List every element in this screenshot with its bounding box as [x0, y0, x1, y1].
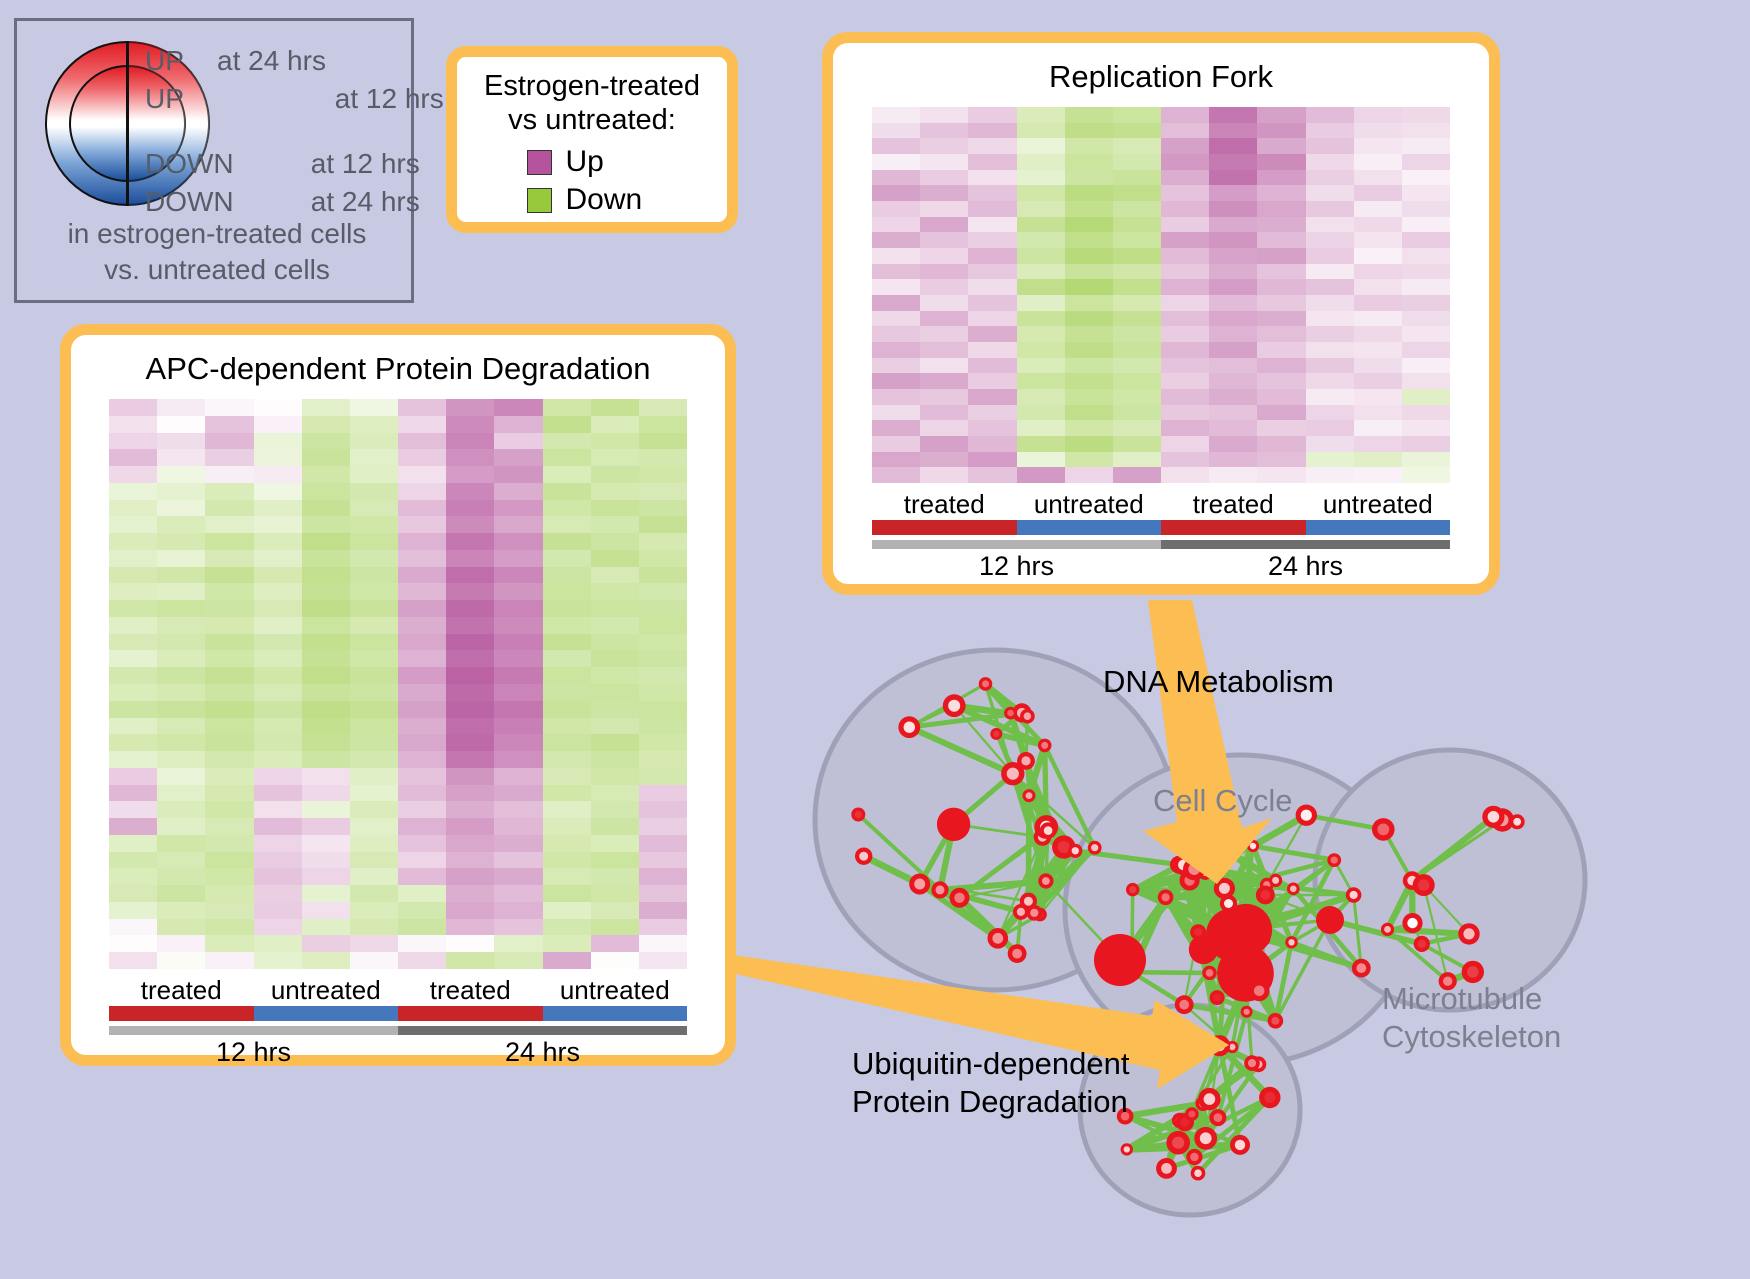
estrogen-title-line-2: vs untreated: [457, 103, 727, 137]
heatmap-cell [398, 885, 446, 902]
heatmap-cell [639, 785, 687, 802]
apc-group-labels: treateduntreatedtreateduntreated [109, 975, 687, 1006]
heatmap-cell [1113, 311, 1161, 327]
heatmap-cell [1306, 107, 1354, 123]
network-node-core [1161, 1163, 1172, 1174]
heatmap-cell [968, 467, 1016, 483]
heatmap-cell [350, 634, 398, 651]
heatmap-cell [920, 248, 968, 264]
heatmap-cell [639, 718, 687, 735]
heatmap-cell [1161, 201, 1209, 217]
heatmap-cell [302, 466, 350, 483]
heatmap-cell [543, 600, 591, 617]
heatmap-cell [1209, 232, 1257, 248]
heatmap-cell [350, 952, 398, 969]
heatmap-cell [302, 734, 350, 751]
group-label: untreated [1306, 489, 1451, 520]
heatmap-cell [1402, 170, 1450, 186]
replication-fork-group-labels: treateduntreatedtreateduntreated [872, 489, 1450, 520]
heatmap-cell [1161, 185, 1209, 201]
heatmap-cell [109, 583, 157, 600]
heatmap-cell [872, 295, 920, 311]
heatmap-cell [968, 264, 1016, 280]
heatmap-cell [109, 600, 157, 617]
heatmap-cell [1354, 342, 1402, 358]
heatmap-cell [350, 516, 398, 533]
heatmap-cell [446, 801, 494, 818]
heatmap-cell [591, 550, 639, 567]
network-node-core [1271, 1017, 1279, 1025]
heatmap-cell [446, 600, 494, 617]
heatmap-cell [639, 399, 687, 416]
heatmap-cell [494, 634, 542, 651]
heatmap-cell [591, 701, 639, 718]
heatmap-cell [591, 483, 639, 500]
heatmap-cell [1257, 248, 1305, 264]
legend-label-down: Down [566, 183, 658, 217]
heatmap-cell [1113, 326, 1161, 342]
heatmap-cell [350, 751, 398, 768]
heatmap-cell [302, 935, 350, 952]
heatmap-cell [109, 919, 157, 936]
heatmap-cell [1065, 311, 1113, 327]
heatmap-cell [254, 852, 302, 869]
heatmap-cell [872, 436, 920, 452]
heatmap-cell [398, 567, 446, 584]
heatmap-cell [302, 667, 350, 684]
heatmap-cell [1354, 138, 1402, 154]
heatmap-cell [639, 701, 687, 718]
heatmap-cell [302, 634, 350, 651]
heatmap-cell [109, 768, 157, 785]
heatmap-cell [205, 952, 253, 969]
dial-divider [126, 41, 129, 206]
heatmap-cell [494, 667, 542, 684]
heatmap-cell [1402, 138, 1450, 154]
heatmap-cell [1113, 232, 1161, 248]
heatmap-cell [543, 919, 591, 936]
heatmap-cell [591, 801, 639, 818]
heatmap-cell [1257, 389, 1305, 405]
heatmap-cell [494, 868, 542, 885]
heatmap-cell [639, 751, 687, 768]
heatmap-cell [109, 751, 157, 768]
heatmap-cell [205, 751, 253, 768]
heatmap-cell [350, 902, 398, 919]
heatmap-cell [591, 516, 639, 533]
heatmap-cell [109, 667, 157, 684]
heatmap-cell [350, 449, 398, 466]
replication-fork-time-bars [872, 540, 1450, 549]
heatmap-cell [157, 483, 205, 500]
heatmap-cell [1017, 154, 1065, 170]
heatmap-cell [1209, 123, 1257, 139]
heatmap-cell [398, 483, 446, 500]
heatmap-cell [302, 868, 350, 885]
heatmap-cell [157, 718, 205, 735]
heatmap-cell [1257, 405, 1305, 421]
network-node[interactable] [1316, 906, 1344, 934]
network-node-core [1042, 877, 1050, 885]
heatmap-cell [1257, 232, 1305, 248]
network-node-core [992, 933, 1003, 944]
heatmap-cell [1017, 295, 1065, 311]
heatmap-cell [543, 583, 591, 600]
network-node-core [1418, 940, 1426, 948]
heatmap-cell [109, 516, 157, 533]
heatmap-cell [157, 734, 205, 751]
heatmap-cell [968, 420, 1016, 436]
heatmap-cell [398, 449, 446, 466]
cluster-label-cell-cycle: Cell Cycle [1153, 783, 1293, 819]
time-label: 12 hrs [872, 551, 1161, 582]
heatmap-cell [1209, 217, 1257, 233]
heatmap-cell [1402, 154, 1450, 170]
heatmap-cell [1257, 107, 1305, 123]
heatmap-cell [920, 264, 968, 280]
heatmap-cell [1257, 170, 1305, 186]
heatmap-cell [1017, 326, 1065, 342]
heatmap-cell [398, 751, 446, 768]
heatmap-cell [1161, 232, 1209, 248]
heatmap-cell [494, 935, 542, 952]
heatmap-cell [109, 885, 157, 902]
heatmap-cell [543, 801, 591, 818]
heatmap-cell [1017, 311, 1065, 327]
heatmap-cell [157, 634, 205, 651]
network-node[interactable] [937, 808, 970, 841]
heatmap-cell [398, 550, 446, 567]
heatmap-cell [968, 311, 1016, 327]
protein-interaction-network [790, 620, 1750, 1279]
heatmap-cell [446, 399, 494, 416]
heatmap-cell [1113, 295, 1161, 311]
heatmap-cell [398, 416, 446, 433]
heatmap-cell [1354, 154, 1402, 170]
heatmap-cell [398, 516, 446, 533]
time-bar [109, 1026, 398, 1035]
network-node-core [1407, 918, 1417, 928]
network-node-core [1194, 1169, 1202, 1177]
heatmap-cell [543, 768, 591, 785]
heatmap-cell [302, 533, 350, 550]
network-node-core [1301, 810, 1312, 821]
heatmap-cell [639, 650, 687, 667]
heatmap-cell [254, 600, 302, 617]
heatmap-cell [1161, 154, 1209, 170]
heatmap-cell [1017, 467, 1065, 483]
heatmap-cell [872, 248, 920, 264]
heatmap-cell [543, 852, 591, 869]
legend-item-down: Down [457, 183, 727, 217]
heatmap-cell [350, 533, 398, 550]
heatmap-cell [639, 885, 687, 902]
heatmap-cell [205, 768, 253, 785]
network-node-core [1024, 712, 1032, 720]
network-node-core [1190, 1153, 1198, 1161]
heatmap-cell [1257, 373, 1305, 389]
heatmap-cell [494, 567, 542, 584]
heatmap-cell [494, 583, 542, 600]
heatmap-cell [1354, 436, 1402, 452]
heatmap-cell [1257, 326, 1305, 342]
heatmap-cell [109, 785, 157, 802]
heatmap-cell [1161, 217, 1209, 233]
heatmap-cell [494, 718, 542, 735]
heatmap-cell [1402, 248, 1450, 264]
heatmap-cell [639, 617, 687, 634]
heatmap-cell [591, 684, 639, 701]
heatmap-cell [205, 533, 253, 550]
heatmap-cell [1113, 201, 1161, 217]
heatmap-cell [254, 516, 302, 533]
heatmap-cell [1402, 326, 1450, 342]
heatmap-cell [968, 170, 1016, 186]
heatmap-cell [920, 154, 968, 170]
heatmap-cell [205, 550, 253, 567]
heatmap-cell [350, 617, 398, 634]
heatmap-cell [1354, 264, 1402, 280]
heatmap-cell [302, 567, 350, 584]
heatmap-cell [254, 483, 302, 500]
network-node[interactable] [1206, 908, 1260, 962]
heatmap-cell [1354, 452, 1402, 468]
heatmap-cell [1257, 342, 1305, 358]
heatmap-cell [446, 868, 494, 885]
heatmap-cell [591, 768, 639, 785]
heatmap-cell [591, 852, 639, 869]
heatmap-cell [302, 516, 350, 533]
heatmap-cell [157, 449, 205, 466]
heatmap-cell [398, 852, 446, 869]
heatmap-cell [398, 902, 446, 919]
cluster-label-ubiquitin-degradation: Ubiquitin-dependent Protein Degradation [852, 1045, 1130, 1121]
heatmap-cell [446, 684, 494, 701]
network-node[interactable] [1094, 934, 1146, 986]
heatmap-cell [157, 433, 205, 450]
network-node-core [1213, 994, 1221, 1002]
network-node-core [1235, 1140, 1245, 1150]
heatmap-cell [350, 818, 398, 835]
heatmap-cell [591, 466, 639, 483]
heatmap-cell [494, 516, 542, 533]
network-node-core [1017, 908, 1025, 916]
heatmap-cell [254, 684, 302, 701]
heatmap-cell [205, 449, 253, 466]
heatmap-cell [302, 500, 350, 517]
heatmap-cell [543, 466, 591, 483]
heatmap-cell [109, 399, 157, 416]
cluster-label-microtubule-cytoskeleton: Microtubule Cytoskeleton [1382, 980, 1561, 1056]
heatmap-cell [1402, 405, 1450, 421]
heatmap-cell [254, 650, 302, 667]
heatmap-cell [1065, 170, 1113, 186]
heatmap-cell [1161, 264, 1209, 280]
heatmap-cell [350, 433, 398, 450]
heatmap-cell [254, 466, 302, 483]
network-node-core [1350, 891, 1358, 899]
heatmap-cell [968, 295, 1016, 311]
heatmap-cell [1209, 138, 1257, 154]
heatmap-cell [254, 768, 302, 785]
heatmap-cell [446, 667, 494, 684]
heatmap-cell [254, 533, 302, 550]
heatmap-cell [157, 868, 205, 885]
heatmap-cell [302, 684, 350, 701]
heatmap-cell [109, 835, 157, 852]
heatmap-cell [1161, 326, 1209, 342]
dial-time-1: at 12 hrs [335, 83, 444, 114]
heatmap-cell [543, 650, 591, 667]
heatmap-cell [639, 952, 687, 969]
heatmap-cell [968, 389, 1016, 405]
heatmap-cell [254, 583, 302, 600]
heatmap-cell [494, 399, 542, 416]
heatmap-cell [446, 483, 494, 500]
heatmap-cell [446, 852, 494, 869]
heatmap-cell [398, 718, 446, 735]
heatmap-cell [446, 634, 494, 651]
heatmap-cell [205, 701, 253, 718]
heatmap-cell [1402, 107, 1450, 123]
heatmap-cell [1354, 217, 1402, 233]
heatmap-cell [254, 885, 302, 902]
heatmap-cell [205, 583, 253, 600]
heatmap-cell [254, 416, 302, 433]
heatmap-cell [543, 818, 591, 835]
heatmap-cell [494, 835, 542, 852]
heatmap-cell [1306, 436, 1354, 452]
heatmap-cell [254, 634, 302, 651]
heatmap-cell [1306, 452, 1354, 468]
heatmap-cell [350, 567, 398, 584]
heatmap-cell [1113, 436, 1161, 452]
heatmap-cell [109, 935, 157, 952]
heatmap-cell [302, 835, 350, 852]
heatmap-cell [1354, 107, 1402, 123]
heatmap-cell [398, 835, 446, 852]
heatmap-cell [968, 217, 1016, 233]
heatmap-cell [1113, 170, 1161, 186]
heatmap-cell [920, 452, 968, 468]
apc-degradation-panel: APC-dependent Protein Degradation treate… [60, 324, 736, 1066]
heatmap-cell [1209, 467, 1257, 483]
heatmap-cell [157, 684, 205, 701]
network-node-core [1288, 939, 1294, 945]
heatmap-cell [205, 567, 253, 584]
heatmap-cell [968, 138, 1016, 154]
network-node-core [1214, 1040, 1225, 1051]
heatmap-cell [1209, 170, 1257, 186]
heatmap-cell [109, 416, 157, 433]
heatmap-cell [1257, 420, 1305, 436]
heatmap-cell [350, 600, 398, 617]
heatmap-cell [1209, 295, 1257, 311]
heatmap-cell [639, 567, 687, 584]
heatmap-cell [968, 232, 1016, 248]
heatmap-cell [1065, 358, 1113, 374]
heatmap-cell [350, 785, 398, 802]
heatmap-cell [254, 868, 302, 885]
heatmap-cell [639, 835, 687, 852]
heatmap-cell [446, 550, 494, 567]
heatmap-cell [494, 449, 542, 466]
heatmap-cell [1209, 436, 1257, 452]
heatmap-cell [446, 818, 494, 835]
replication-fork-title: Replication Fork [833, 59, 1489, 95]
heatmap-cell [494, 852, 542, 869]
heatmap-cell [1161, 170, 1209, 186]
estrogen-title-line-1: Estrogen-treated [457, 69, 727, 103]
heatmap-cell [398, 952, 446, 969]
heatmap-cell [1306, 170, 1354, 186]
heatmap-cell [1113, 452, 1161, 468]
heatmap-cell [591, 399, 639, 416]
heatmap-cell [1306, 373, 1354, 389]
heatmap-cell [591, 583, 639, 600]
heatmap-cell [1161, 467, 1209, 483]
heatmap-cell [157, 751, 205, 768]
network-node-core [1244, 1009, 1250, 1015]
heatmap-cell [1113, 123, 1161, 139]
heatmap-cell [1113, 138, 1161, 154]
heatmap-cell [398, 634, 446, 651]
network-node-core [1248, 1059, 1256, 1067]
heatmap-cell [350, 701, 398, 718]
heatmap-cell [350, 852, 398, 869]
heatmap-cell [205, 500, 253, 517]
heatmap-cell [302, 617, 350, 634]
heatmap-cell [968, 358, 1016, 374]
heatmap-cell [591, 500, 639, 517]
heatmap-cell [1065, 436, 1113, 452]
heatmap-cell [302, 852, 350, 869]
heatmap-cell [1209, 264, 1257, 280]
heatmap-cell [1306, 420, 1354, 436]
heatmap-cell [494, 734, 542, 751]
heatmap-cell [157, 885, 205, 902]
heatmap-cell [872, 373, 920, 389]
dial-key-3: DOWN [145, 187, 255, 217]
heatmap-cell [1065, 467, 1113, 483]
heatmap-cell [968, 405, 1016, 421]
heatmap-cell [446, 935, 494, 952]
heatmap-cell [639, 935, 687, 952]
heatmap-cell [1161, 436, 1209, 452]
heatmap-cell [1402, 358, 1450, 374]
treatment-bar [543, 1006, 688, 1021]
heatmap-cell [350, 399, 398, 416]
heatmap-cell [494, 701, 542, 718]
heatmap-cell [639, 466, 687, 483]
heatmap-cell [1161, 123, 1209, 139]
network-node-core [1219, 883, 1230, 894]
heatmap-cell [1402, 201, 1450, 217]
dial-legend-row-1: UP at 12 hrs [145, 84, 372, 114]
heatmap-cell [1354, 170, 1402, 186]
heatmap-cell [1209, 358, 1257, 374]
heatmap-cell [1065, 326, 1113, 342]
time-label: 24 hrs [398, 1037, 687, 1068]
heatmap-cell [543, 718, 591, 735]
heatmap-cell [1113, 342, 1161, 358]
heatmap-cell [1161, 373, 1209, 389]
heatmap-cell [254, 567, 302, 584]
heatmap-cell [1113, 217, 1161, 233]
heatmap-cell [109, 650, 157, 667]
heatmap-cell [1065, 342, 1113, 358]
heatmap-cell [591, 734, 639, 751]
